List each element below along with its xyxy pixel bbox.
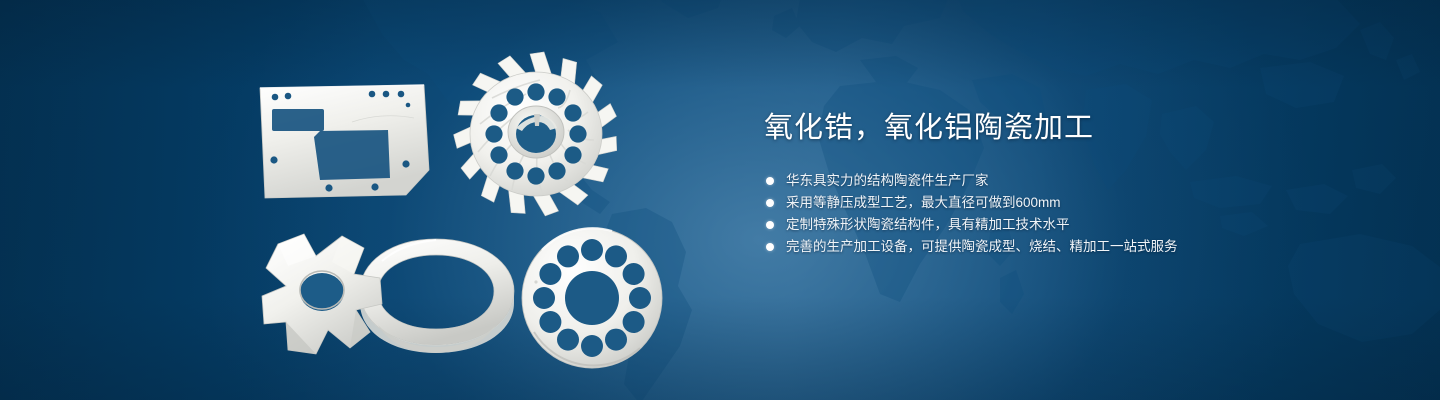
list-item-label: 华东具实力的结构陶瓷件生产厂家 — [786, 173, 989, 188]
list-item: 定制特殊形状陶瓷结构件，具有精加工技术水平 — [764, 214, 1324, 236]
ceramic-vaned-impeller — [452, 52, 620, 216]
list-item: 完善的生产加工设备，可提供陶瓷成型、烧结、精加工一站式服务 — [764, 236, 1324, 258]
list-item: 华东具实力的结构陶瓷件生产厂家 — [764, 170, 1324, 192]
list-item-label: 定制特殊形状陶瓷结构件，具有精加工技术水平 — [786, 217, 1070, 232]
hero-banner: 氧化锆，氧化铝陶瓷加工 华东具实力的结构陶瓷件生产厂家 采用等静压成型工艺，最大… — [0, 0, 1440, 400]
page-title: 氧化锆，氧化铝陶瓷加工 — [764, 108, 1324, 148]
list-item: 采用等静压成型工艺，最大直径可做到600mm — [764, 192, 1324, 214]
banner-copy: 氧化锆，氧化铝陶瓷加工 华东具实力的结构陶瓷件生产厂家 采用等静压成型工艺，最大… — [764, 108, 1324, 258]
ceramic-four-lobe-cross-part — [258, 228, 392, 360]
list-item-label: 完善的生产加工设备，可提供陶瓷成型、烧结、精加工一站式服务 — [786, 239, 1178, 254]
list-item-label: 采用等静压成型工艺，最大直径可做到600mm — [786, 195, 1061, 210]
ceramic-plate-with-cutouts — [256, 82, 436, 202]
ceramic-perforated-disc — [518, 224, 666, 372]
bullet-dot-icon — [766, 243, 774, 251]
feature-bullet-list: 华东具实力的结构陶瓷件生产厂家 采用等静压成型工艺，最大直径可做到600mm 定… — [764, 170, 1324, 258]
bullet-dot-icon — [766, 221, 774, 229]
product-photo-group — [0, 0, 720, 400]
bullet-dot-icon — [766, 199, 774, 207]
bullet-dot-icon — [766, 177, 774, 185]
